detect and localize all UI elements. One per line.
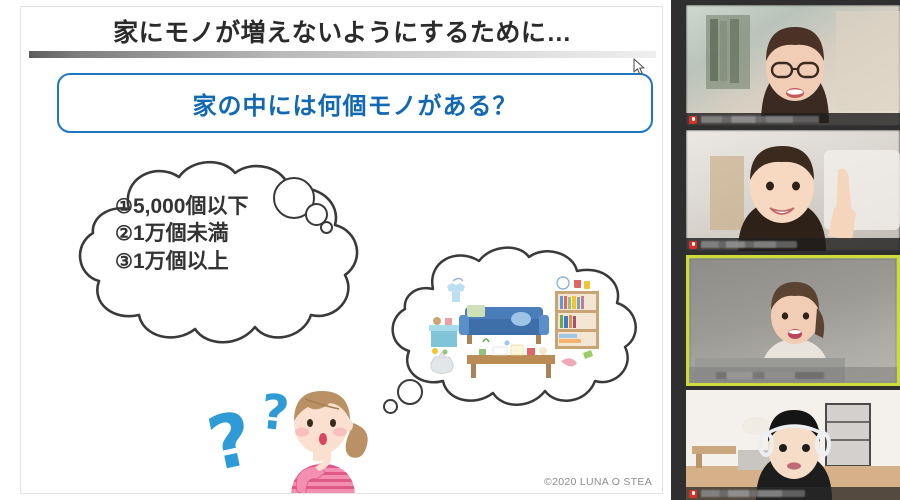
participant-name-redacted <box>701 116 819 123</box>
participant-name-bar <box>686 113 900 126</box>
participant-name-redacted <box>701 241 797 248</box>
participant-tile-active-speaker[interactable] <box>686 255 900 386</box>
video-feed <box>686 390 900 500</box>
mouse-cursor-icon <box>633 58 647 76</box>
option-number: ③ <box>115 251 133 273</box>
option-label: 5,000個以下 <box>133 195 249 218</box>
copyright-notice: ©2020 LUNA O STEA <box>544 476 652 488</box>
participant-image <box>686 390 900 500</box>
answer-options-cloud: ①5,000個以下 ②1万個未満 ③1万個以上 <box>63 157 383 352</box>
participant-image <box>689 258 897 383</box>
participant-image <box>686 130 900 251</box>
participant-name-redacted <box>692 372 824 379</box>
messy-living-room-illustration <box>423 269 613 384</box>
option-label: 1万個以上 <box>133 250 229 273</box>
option-number: ① <box>115 196 133 218</box>
participant-name-bar <box>689 367 897 383</box>
option-label: 1万個未満 <box>133 222 229 245</box>
participant-name-redacted <box>701 490 805 497</box>
video-feed <box>686 130 900 251</box>
question-box: 家の中には何個モノがある？ <box>57 73 653 133</box>
participant-tile[interactable] <box>686 130 900 251</box>
participant-tile[interactable] <box>686 5 900 126</box>
option-number: ② <box>115 223 133 245</box>
participant-tile[interactable] <box>686 390 900 500</box>
microphone-muted-icon <box>689 116 697 124</box>
microphone-muted-icon <box>689 490 697 498</box>
thought-bubble-tail-small <box>320 221 333 234</box>
thinking-woman-illustration <box>257 379 397 494</box>
participant-image <box>686 5 900 126</box>
microphone-muted-icon <box>689 241 697 249</box>
title-underline-bar <box>29 51 656 58</box>
thought-bubble-tail-medium <box>397 379 423 405</box>
list-item: ③1万個以上 <box>115 248 355 275</box>
participant-video-rail[interactable] <box>671 0 900 500</box>
presentation-slide: 家にモノが増えないようにするために… 家の中には何個モノがある？ ①5,000個… <box>20 6 663 494</box>
page-title: 家にモノが増えないようにするために… <box>21 13 663 49</box>
video-feed <box>686 5 900 126</box>
participant-name-bar <box>686 238 900 251</box>
question-text: 家の中には何個モノがある？ <box>193 86 518 121</box>
video-feed <box>689 258 897 383</box>
shared-content-region: 家にモノが増えないようにするために… 家の中には何個モノがある？ ①5,000個… <box>0 0 671 500</box>
screen-share-window: 家にモノが増えないようにするために… 家の中には何個モノがある？ ①5,000個… <box>0 0 900 500</box>
participant-name-bar <box>686 487 900 500</box>
question-mark-large-icon: ? <box>201 395 261 488</box>
